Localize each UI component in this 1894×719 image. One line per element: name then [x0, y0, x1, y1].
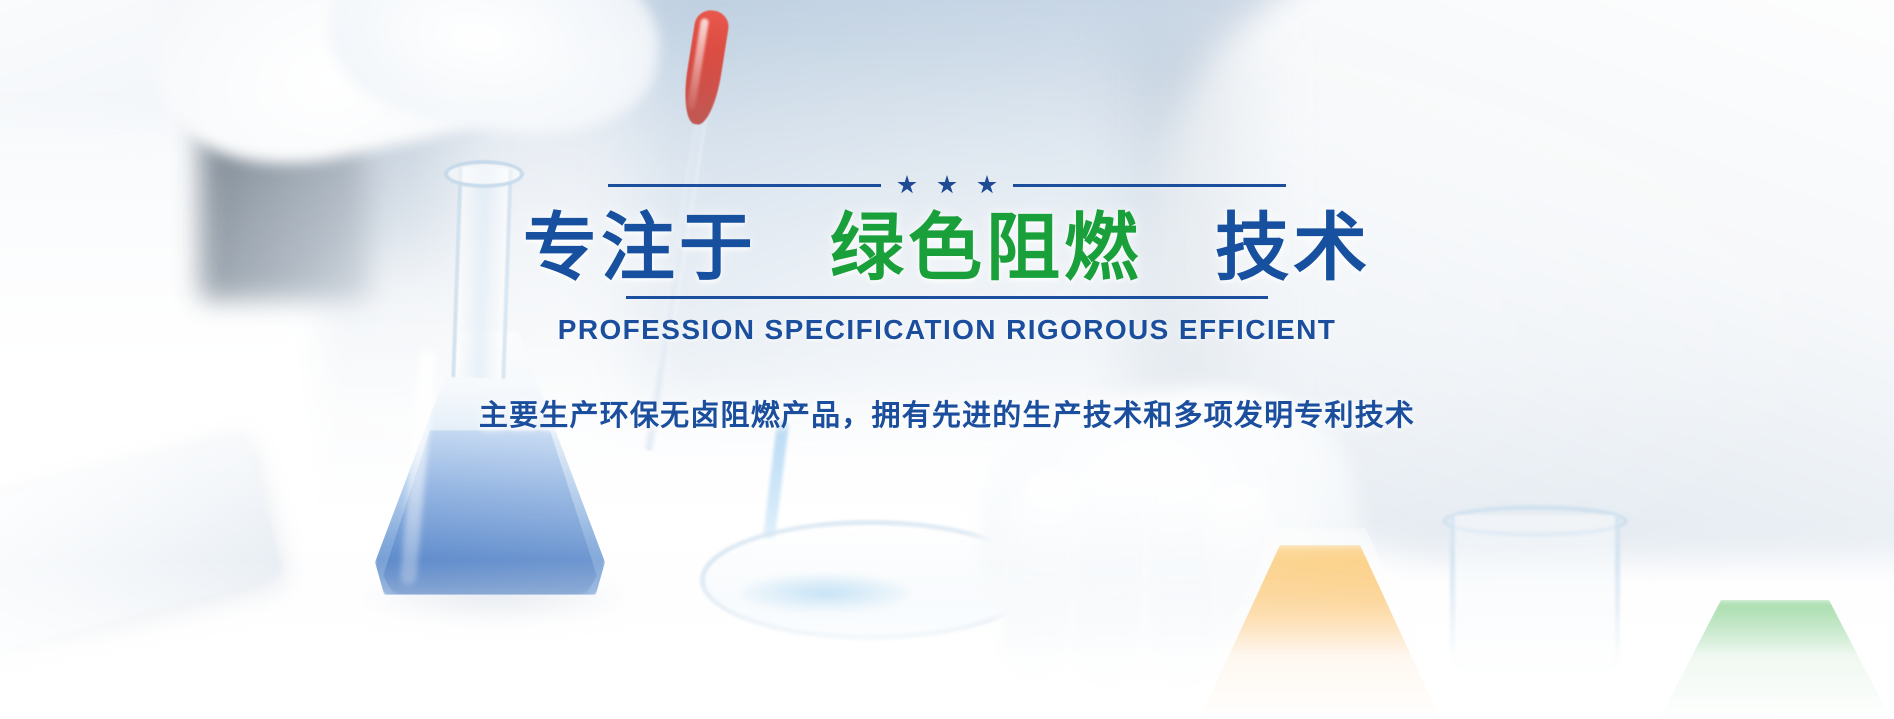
divider-line-left [608, 184, 881, 187]
star-icon [897, 175, 917, 195]
divider-line-right [1013, 184, 1286, 187]
star-icon [977, 175, 997, 195]
banner-content: 专注于 绿色阻燃 技术 PROFESSION SPECIFICATION RIG… [0, 0, 1894, 434]
star-icon [937, 175, 957, 195]
headline-part-1: 专注于 [523, 206, 757, 289]
star-group [897, 175, 997, 195]
hero-banner: 专注于 绿色阻燃 技术 PROFESSION SPECIFICATION RIG… [0, 0, 1894, 719]
headline-part-3: 技术 [1215, 206, 1371, 289]
divider-line-bottom [626, 296, 1268, 299]
decorative-divider [608, 175, 1286, 195]
headline-part-2: 绿色阻燃 [830, 206, 1142, 289]
tagline: 主要生产环保无卤阻燃产品，拥有先进的生产技术和多项发明专利技术 [479, 392, 1415, 434]
subtitle: PROFESSION SPECIFICATION RIGOROUS EFFICI… [558, 314, 1336, 346]
headline: 专注于 绿色阻燃 技术 [523, 207, 1371, 290]
